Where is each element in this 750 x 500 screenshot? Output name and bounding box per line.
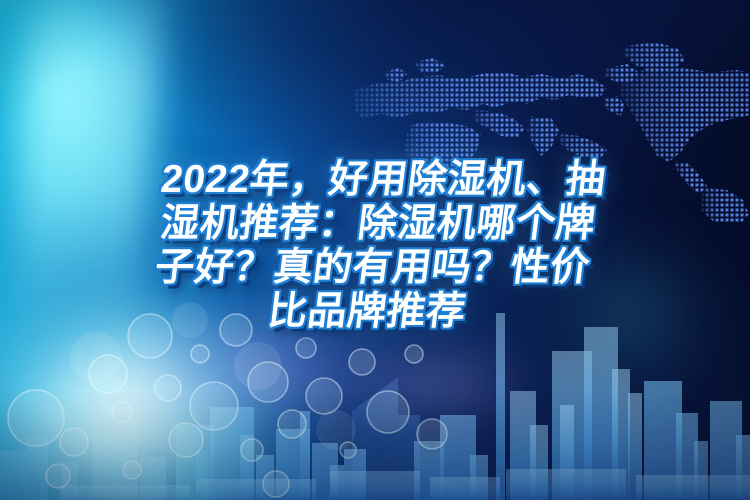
promo-banner: 2022年，好用除湿机、抽 湿机推荐：除湿机哪个牌 子好？真的有用吗？性价 比品… [0,0,750,500]
headline-line-2: 湿机推荐：除湿机哪个牌 [153,202,603,246]
headline-line-3: 子好？真的有用吗？性价 [147,246,597,290]
banner-headline: 2022年，好用除湿机、抽 湿机推荐：除湿机哪个牌 子好？真的有用吗？性价 比品… [142,158,608,334]
headline-line-4: 比品牌推荐 [142,290,592,334]
headline-line-1: 2022年，好用除湿机、抽 [158,158,608,202]
headline-container: 2022年，好用除湿机、抽 湿机推荐：除湿机哪个牌 子好？真的有用吗？性价 比品… [0,158,750,334]
